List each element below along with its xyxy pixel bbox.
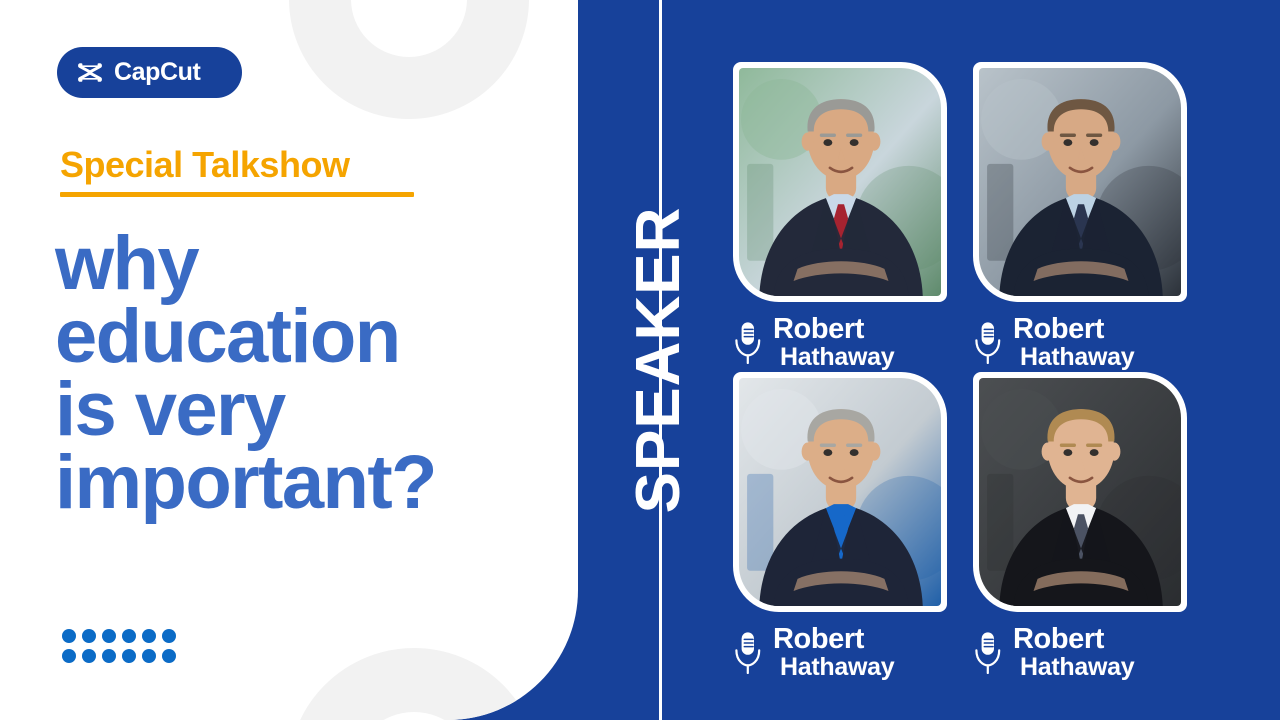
headline-line-4: important?: [55, 447, 555, 520]
speaker-last-name: Hathaway: [780, 345, 894, 370]
decorative-dot: [62, 649, 76, 663]
speaker-card[interactable]: RobertHathaway: [733, 372, 947, 682]
speaker-photo-frame: [733, 372, 947, 612]
decorative-dot: [142, 649, 156, 663]
speaker-card-grid: RobertHathaway: [733, 62, 1213, 682]
speaker-card[interactable]: RobertHathaway: [973, 62, 1187, 372]
decorative-dot: [82, 629, 96, 643]
headline-line-2: education: [55, 301, 555, 374]
decorative-dot: [62, 629, 76, 643]
decorative-dot: [102, 629, 116, 643]
speaker-first-name: Robert: [1013, 625, 1134, 654]
page-title: why education is very important?: [55, 228, 555, 520]
speaker-photo: [979, 68, 1181, 296]
decorative-dot: [102, 649, 116, 663]
kicker-text: Special Talkshow: [60, 145, 414, 185]
microphone-icon: [733, 631, 762, 674]
decorative-ring-bottom: [288, 648, 540, 720]
speaker-section-label: SPEAKER: [628, 207, 690, 514]
speaker-photo-frame: [973, 372, 1187, 612]
speaker-photo: [979, 378, 1181, 606]
capcut-logo-pill[interactable]: CapCut: [57, 47, 242, 98]
speaker-name-block: RobertHathaway: [1013, 315, 1134, 370]
speaker-name-block: RobertHathaway: [773, 625, 894, 680]
speaker-photo: [739, 68, 941, 296]
decorative-dot: [82, 649, 96, 663]
speaker-last-name: Hathaway: [780, 655, 894, 680]
microphone-icon: [973, 631, 1002, 674]
speaker-name-row: RobertHathaway: [973, 315, 1187, 370]
speaker-last-name: Hathaway: [1020, 345, 1134, 370]
decorative-dot: [122, 629, 136, 643]
decorative-dot: [122, 649, 136, 663]
microphone-icon: [973, 321, 1002, 364]
microphone-icon: [733, 321, 762, 364]
kicker-underline: [60, 192, 414, 197]
kicker-group: Special Talkshow: [60, 145, 414, 197]
speaker-name-block: RobertHathaway: [1013, 625, 1134, 680]
speaker-card[interactable]: RobertHathaway: [733, 62, 947, 372]
speaker-photo: [739, 378, 941, 606]
microphone-icon: [973, 321, 1002, 364]
decorative-dot: [162, 649, 176, 663]
speaker-first-name: Robert: [773, 625, 894, 654]
microphone-icon: [733, 321, 762, 364]
capcut-hourglass-icon: [77, 62, 103, 83]
speaker-photo-frame: [733, 62, 947, 302]
headline-line-1: why: [55, 228, 555, 301]
microphone-icon: [733, 631, 762, 674]
speaker-name-row: RobertHathaway: [733, 315, 947, 370]
decorative-dot: [162, 629, 176, 643]
speaker-card[interactable]: RobertHathaway: [973, 372, 1187, 682]
poster-canvas: CapCut Special Talkshow why education is…: [0, 0, 1280, 720]
speaker-photo-frame: [973, 62, 1187, 302]
decorative-ring-top: [289, 0, 529, 119]
speaker-name-block: RobertHathaway: [773, 315, 894, 370]
speaker-name-row: RobertHathaway: [973, 625, 1187, 680]
capcut-logo-text: CapCut: [114, 60, 200, 85]
speaker-name-row: RobertHathaway: [733, 625, 947, 680]
microphone-icon: [973, 631, 1002, 674]
speaker-first-name: Robert: [773, 315, 894, 344]
speaker-first-name: Robert: [1013, 315, 1134, 344]
decorative-dot: [142, 629, 156, 643]
decorative-dot-grid: [62, 629, 176, 663]
speaker-last-name: Hathaway: [1020, 655, 1134, 680]
headline-line-3: is very: [55, 374, 555, 447]
